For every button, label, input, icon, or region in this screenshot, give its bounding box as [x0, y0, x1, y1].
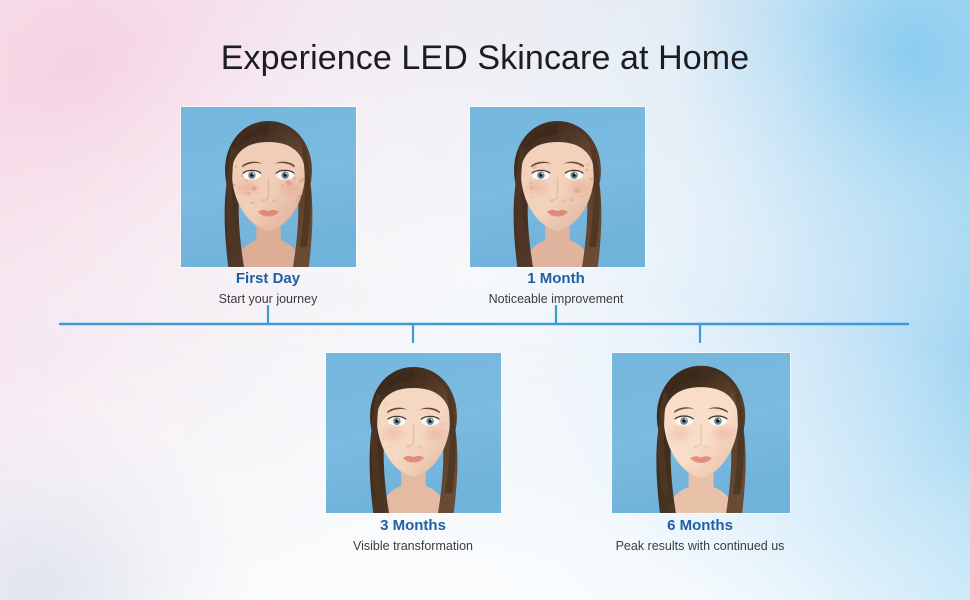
stage-heading-six-months: 6 Months [600, 516, 800, 536]
infographic-canvas: Experience LED Skincare at Home [0, 0, 970, 600]
portrait-illustration [470, 107, 645, 267]
photo-first-day [181, 107, 356, 267]
stage-heading-one-month: 1 Month [466, 269, 646, 289]
label-three-months: 3 MonthsVisible transformation [323, 516, 503, 555]
photo-six-months [612, 353, 790, 513]
stage-caption-three-months: Visible transformation [323, 537, 503, 555]
stage-heading-first-day: First Day [178, 269, 358, 289]
stage-heading-three-months: 3 Months [323, 516, 503, 536]
portrait-illustration [326, 353, 501, 513]
portrait-illustration [612, 353, 790, 513]
label-six-months: 6 MonthsPeak results with continued us [600, 516, 800, 555]
portrait-illustration [181, 107, 356, 267]
stage-caption-first-day: Start your journey [178, 290, 358, 308]
page-title: Experience LED Skincare at Home [0, 36, 970, 80]
label-first-day: First DayStart your journey [178, 269, 358, 308]
photo-three-months [326, 353, 501, 513]
label-one-month: 1 MonthNoticeable improvement [466, 269, 646, 308]
stage-caption-one-month: Noticeable improvement [466, 290, 646, 308]
photo-one-month [470, 107, 645, 267]
stage-caption-six-months: Peak results with continued us [600, 537, 800, 555]
